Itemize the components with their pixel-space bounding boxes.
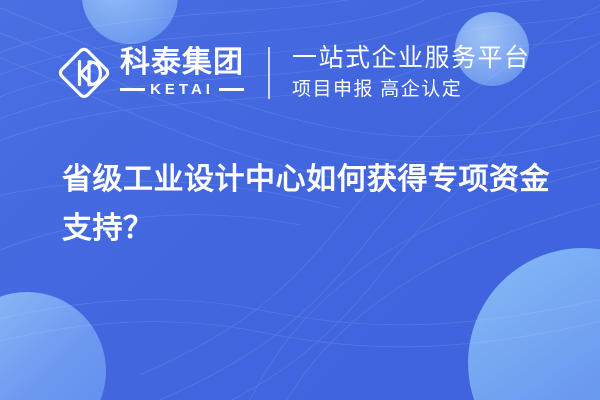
brand-text-block: 科泰集团 KETAI <box>120 47 244 98</box>
page-title: 省级工业设计中心如何获得专项资金支持？ <box>62 156 562 253</box>
banner-header: 科泰集团 KETAI 一站式企业服务平台 项目申报 高企认定 <box>0 0 600 145</box>
brand-name-en-row: KETAI <box>120 81 244 98</box>
tagline-block: 一站式企业服务平台 项目申报 高企认定 <box>292 43 531 103</box>
brand-lockup: 科泰集团 KETAI <box>58 47 244 99</box>
promo-banner: 科泰集团 KETAI 一站式企业服务平台 项目申报 高企认定 省级工业设计中心如… <box>0 0 600 400</box>
brand-dash-left-icon <box>120 88 145 91</box>
ketai-diamond-kp-logo-icon <box>58 47 110 99</box>
tagline-sub: 项目申报 高企认定 <box>292 77 531 103</box>
circle-decoration-bottom-right-icon <box>468 248 600 400</box>
brand-name-en: KETAI <box>150 81 214 98</box>
brand-dash-right-icon <box>219 88 244 91</box>
circle-decoration-bottom-left-icon <box>0 292 106 400</box>
tagline-main: 一站式企业服务平台 <box>292 43 531 74</box>
brand-name-cn: 科泰集团 <box>120 47 244 79</box>
header-divider <box>268 47 270 99</box>
